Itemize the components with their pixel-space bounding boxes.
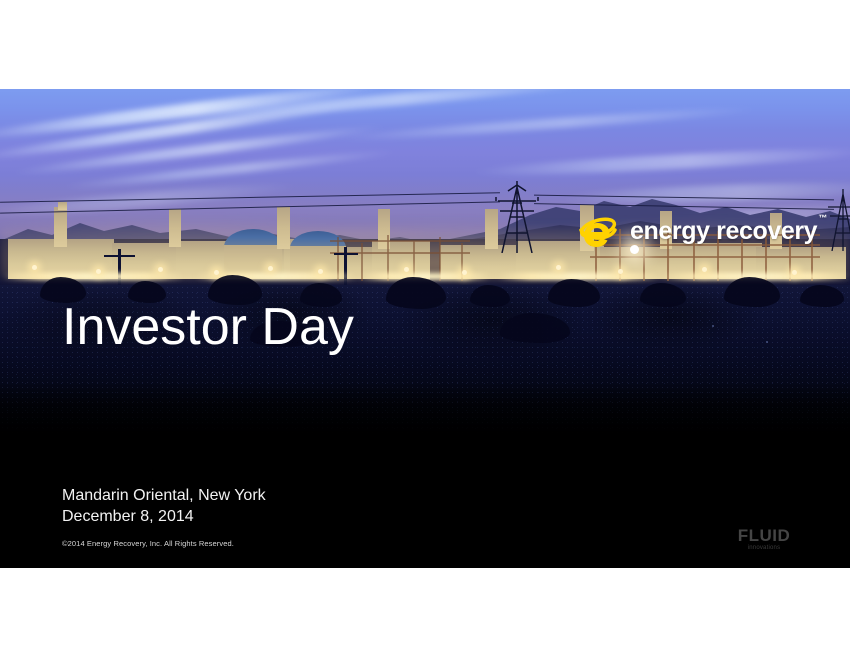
background-photo-power-plant-at-dusk — [0, 89, 850, 434]
energy-recovery-e-swoosh-icon — [574, 213, 620, 249]
energy-recovery-logo: energy recovery™ — [574, 213, 826, 249]
transmission-tower — [494, 181, 540, 253]
plant-smokestack — [277, 207, 290, 249]
plant-lamp — [702, 267, 707, 272]
foreground-highlight — [712, 325, 714, 327]
copyright-notice: ©2014 Energy Recovery, Inc. All Rights R… — [62, 539, 234, 548]
logo-wordmark-text: energy recovery — [630, 217, 817, 245]
fluid-watermark-main: FLUID — [726, 527, 802, 544]
fluid-watermark: FLUID innovations — [726, 527, 802, 551]
foreground-highlight — [766, 341, 768, 343]
plant-lamp — [792, 270, 797, 275]
utility-pole-crossarm — [104, 255, 135, 257]
plant-lamp — [214, 270, 219, 275]
plant-lamp — [556, 265, 561, 270]
plant-lamp — [96, 269, 101, 274]
power-line — [534, 195, 834, 201]
event-date: December 8, 2014 — [62, 507, 266, 528]
power-line — [0, 192, 500, 203]
fluid-watermark-sub: innovations — [726, 545, 802, 551]
plant-smokestack — [54, 207, 67, 247]
plant-lamp — [268, 266, 273, 271]
plant-lamp — [618, 269, 623, 274]
logo-wordmark: energy recovery™ — [630, 217, 826, 246]
event-details: Mandarin Oriental, New York December 8, … — [62, 486, 266, 528]
plant-lamp — [462, 270, 467, 275]
page-title: Investor Day — [62, 300, 354, 355]
plant-lamp — [318, 269, 323, 274]
event-venue: Mandarin Oriental, New York — [62, 486, 266, 507]
utility-pole-crossarm — [334, 253, 358, 255]
trademark-symbol: ™ — [818, 213, 827, 223]
plant-smokestack-cap — [58, 202, 67, 210]
plant-lamp — [158, 267, 163, 272]
plant-smokestack — [169, 209, 181, 247]
title-slide: energy recovery™ Investor Day Mandarin O… — [0, 89, 850, 568]
power-line — [534, 203, 834, 210]
power-line — [0, 201, 500, 213]
plant-light-strip — [4, 273, 184, 280]
plant-lamp — [404, 267, 409, 272]
photo-bottom-fade — [0, 382, 850, 434]
plant-lamp — [32, 265, 37, 270]
